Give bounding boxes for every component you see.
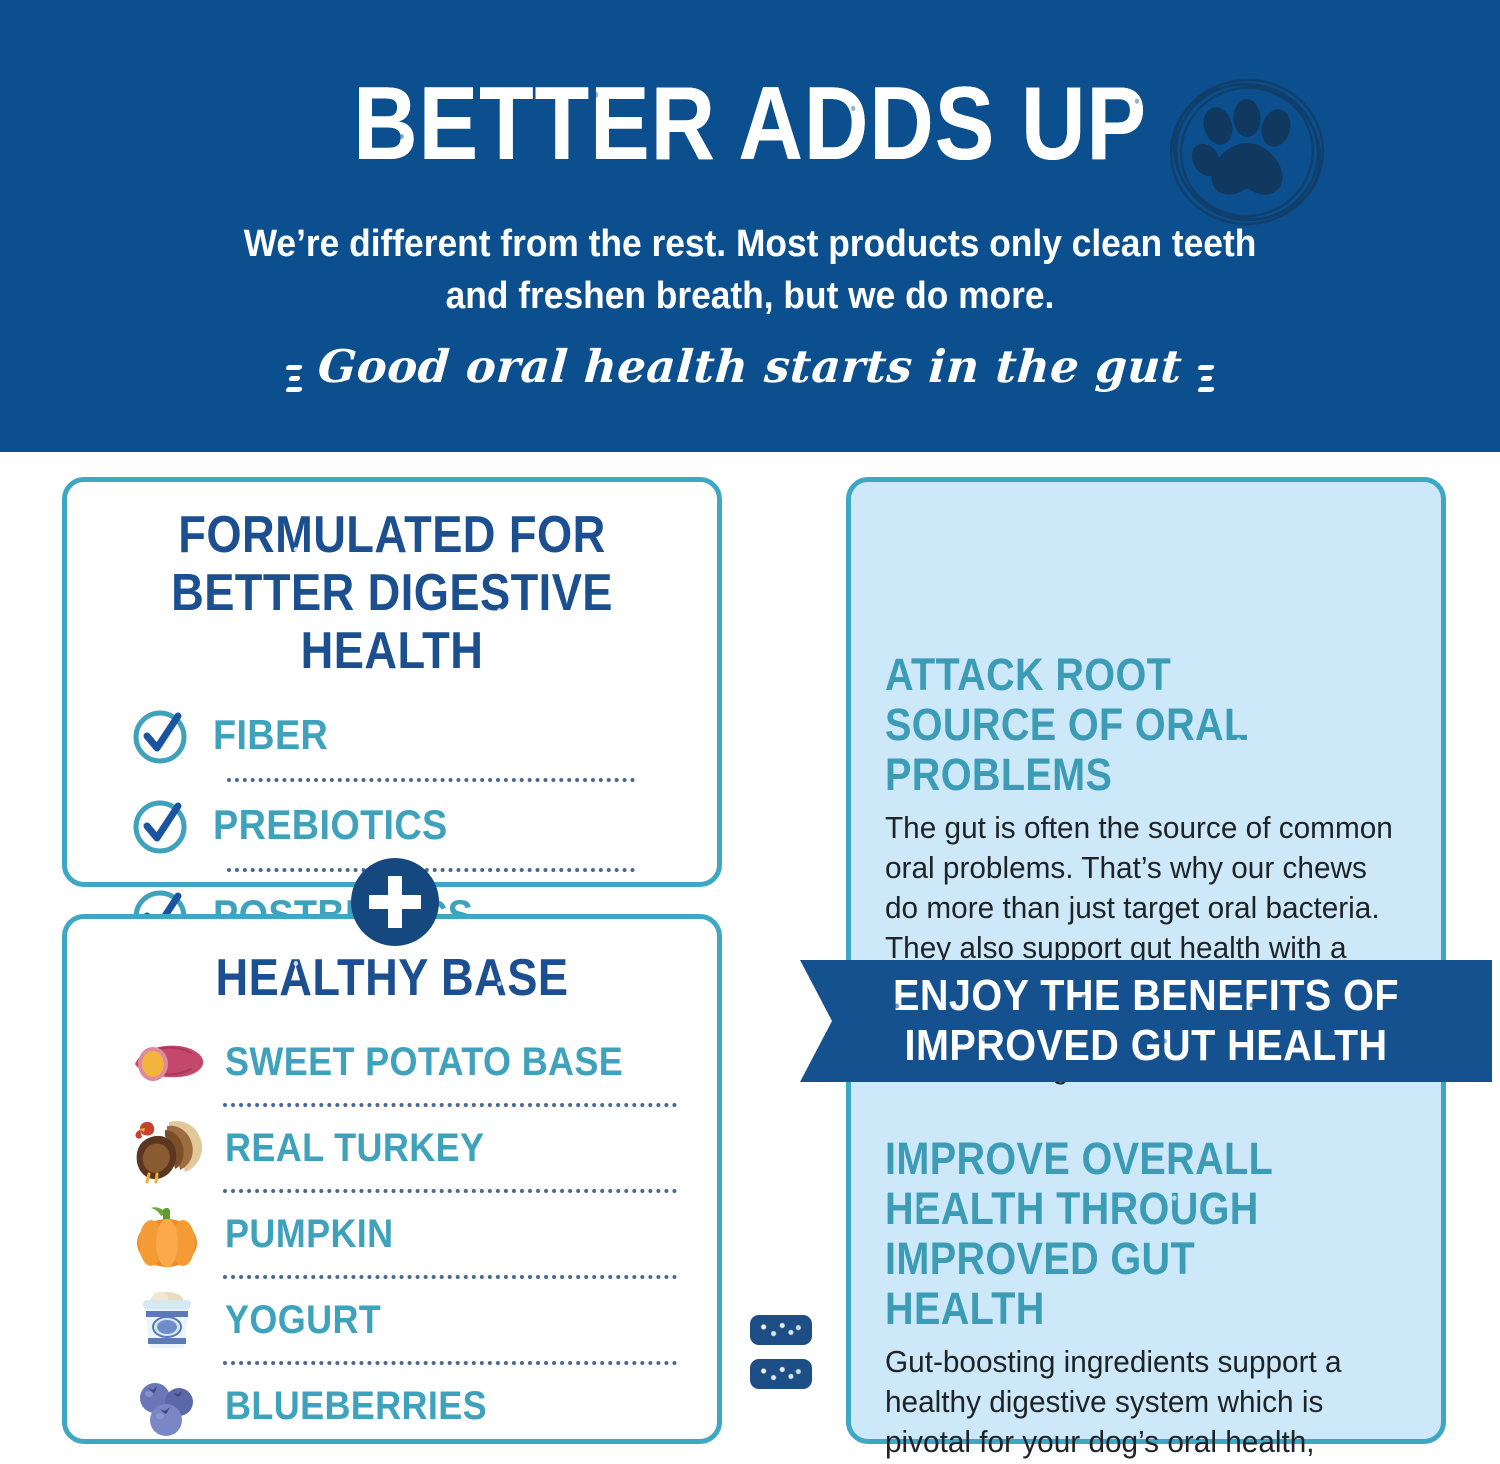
benefits-ribbon-title: ENJOY THE BENEFITS OF IMPROVED GUT HEALT… [835, 971, 1458, 1071]
formulated-card-title: FORMULATED FOR BETTER DIGESTIVE HEALTH [109, 506, 675, 680]
infographic-page: BETTER ADDS UP [0, 0, 1500, 1464]
turkey-icon [123, 1112, 211, 1184]
divider [223, 1189, 677, 1193]
benefits-ribbon: ENJOY THE BENEFITS OF IMPROVED GUT HEALT… [800, 960, 1492, 1082]
tagline-right-mark-icon [1198, 358, 1214, 398]
pumpkin-icon [123, 1198, 211, 1270]
check-circle-icon [129, 704, 191, 766]
list-item-label: FIBER [213, 713, 328, 757]
list-item: SWEET POTATO BASE [123, 1023, 685, 1101]
benefit-body: Gut-boosting ingredients support a healt… [885, 1342, 1406, 1464]
yogurt-cup-icon [123, 1284, 211, 1356]
check-circle-icon [129, 794, 191, 856]
sweet-potato-icon [123, 1026, 211, 1098]
list-item-label: SWEET POTATO BASE [225, 1041, 623, 1083]
benefit-heading: ATTACK ROOT SOURCE OF ORAL PROBLEMS [885, 650, 1344, 800]
header-subtitle: We’re different from the rest. Most prod… [220, 218, 1280, 322]
healthy-base-card: HEALTHY BASE SWEET POTATO BASE [62, 914, 722, 1444]
header-banner: BETTER ADDS UP [0, 0, 1500, 452]
list-item-label: PUMPKIN [225, 1213, 394, 1255]
paw-print-icon [1163, 68, 1331, 236]
list-item-label: REAL TURKEY [225, 1127, 484, 1169]
list-item: PREBIOTICS [129, 788, 677, 862]
benefit-block: IMPROVE OVERALL HEALTH THROUGH IMPROVED … [851, 1134, 1441, 1464]
header-tagline-row: Good oral health starts in the gut [0, 338, 1500, 398]
tagline-left-mark-icon [286, 358, 302, 398]
list-item: BLUEBERRIES [123, 1367, 685, 1445]
content-area: FORMULATED FOR BETTER DIGESTIVE HEALTH F… [0, 452, 1500, 1464]
list-item: YOGURT [123, 1281, 685, 1359]
divider [227, 868, 635, 872]
divider [223, 1361, 677, 1365]
divider [223, 1275, 677, 1279]
list-item-label: PREBIOTICS [213, 803, 448, 847]
header-tagline: Good oral health starts in the gut [316, 338, 1184, 396]
healthy-base-card-title: HEALTHY BASE [109, 949, 675, 1007]
list-item: REAL TURKEY [123, 1109, 685, 1187]
list-item-label: BLUEBERRIES [225, 1385, 487, 1427]
list-item: FIBER [129, 698, 677, 772]
healthy-base-list: SWEET POTATO BASE [67, 1023, 717, 1445]
plus-icon [351, 858, 439, 946]
divider [227, 778, 635, 782]
blueberries-icon [123, 1370, 211, 1442]
list-item: PUMPKIN [123, 1195, 685, 1273]
list-item-label: YOGURT [225, 1299, 381, 1341]
equals-sign-icon [750, 1315, 812, 1399]
divider [223, 1103, 677, 1107]
formulated-card: FORMULATED FOR BETTER DIGESTIVE HEALTH F… [62, 477, 722, 887]
benefit-heading: IMPROVE OVERALL HEALTH THROUGH IMPROVED … [885, 1134, 1344, 1334]
